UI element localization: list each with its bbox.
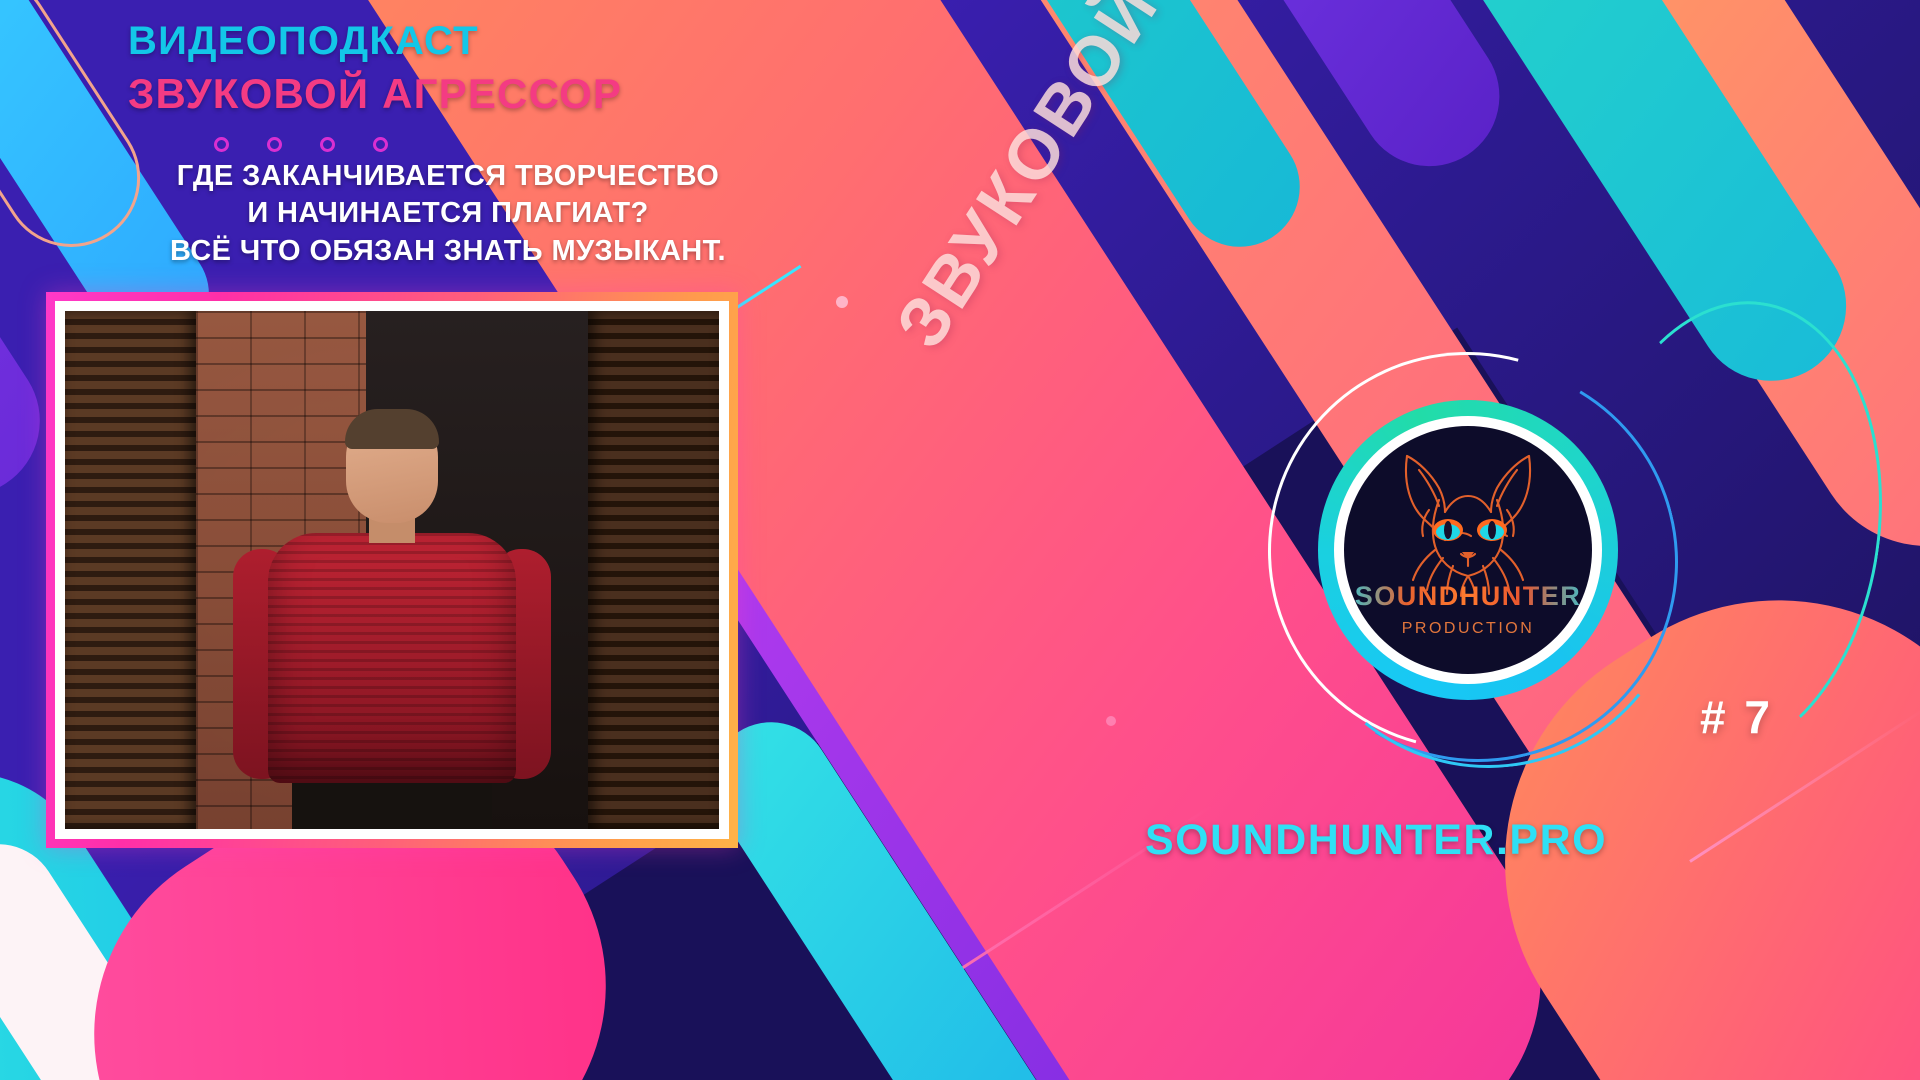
sphynx-cat-icon: [1373, 440, 1563, 600]
subtitle-line-1: ГДЕ ЗАКАНЧИВАЕТСЯ ТВОРЧЕСТВО: [128, 158, 768, 196]
photo-shutter-right: [588, 311, 719, 829]
separator-dot: [214, 137, 229, 152]
guest-photo: [65, 311, 719, 829]
subtitle-line-3: ВСЁ ЧТО ОБЯЗАН ЗНАТЬ МУЗЫКАНТ.: [128, 233, 768, 271]
show-name-label: ЗВУКОВОЙ АГРЕССОР: [128, 69, 768, 119]
kicker-label: ВИДЕОПОДКАСТ: [128, 18, 768, 65]
soundhunter-logo-badge[interactable]: SOUNDHUNTER PRODUCTION: [1318, 400, 1618, 700]
separator-dot: [320, 137, 335, 152]
guest-photo-frame: [46, 292, 738, 848]
photo-shutter-left: [65, 311, 196, 829]
guest-person-figure: [227, 409, 557, 829]
accent-dot-2: [1106, 716, 1116, 726]
dot-separator: [214, 137, 768, 152]
logo-tagline-text: PRODUCTION: [1344, 620, 1592, 638]
logo-brand-text: SOUNDHUNTER: [1344, 581, 1592, 612]
website-url-label[interactable]: SOUNDHUNTER.PRO: [1145, 816, 1607, 865]
episode-number-badge: # 7: [1700, 690, 1773, 744]
separator-dot: [267, 137, 282, 152]
subtitle-line-2: И НАЧИНАЕТСЯ ПЛАГИАТ?: [128, 195, 768, 233]
header-block: ВИДЕОПОДКАСТ ЗВУКОВОЙ АГРЕССОР ГДЕ ЗАКАН…: [128, 18, 768, 271]
poster-canvas: ЗВУКОВОЙ ОХОТНИК ВИДЕОПОДКАСТ ЗВУКОВОЙ А…: [0, 0, 1920, 1080]
logo-disc: SOUNDHUNTER PRODUCTION: [1344, 426, 1592, 674]
accent-dot-1: [836, 296, 848, 308]
separator-dot: [373, 137, 388, 152]
guest-photo-inner-border: [55, 301, 729, 839]
person-torso: [268, 533, 516, 783]
episode-subtitle: ГДЕ ЗАКАНЧИВАЕТСЯ ТВОРЧЕСТВО И НАЧИНАЕТС…: [128, 158, 768, 271]
person-hair: [345, 409, 439, 449]
